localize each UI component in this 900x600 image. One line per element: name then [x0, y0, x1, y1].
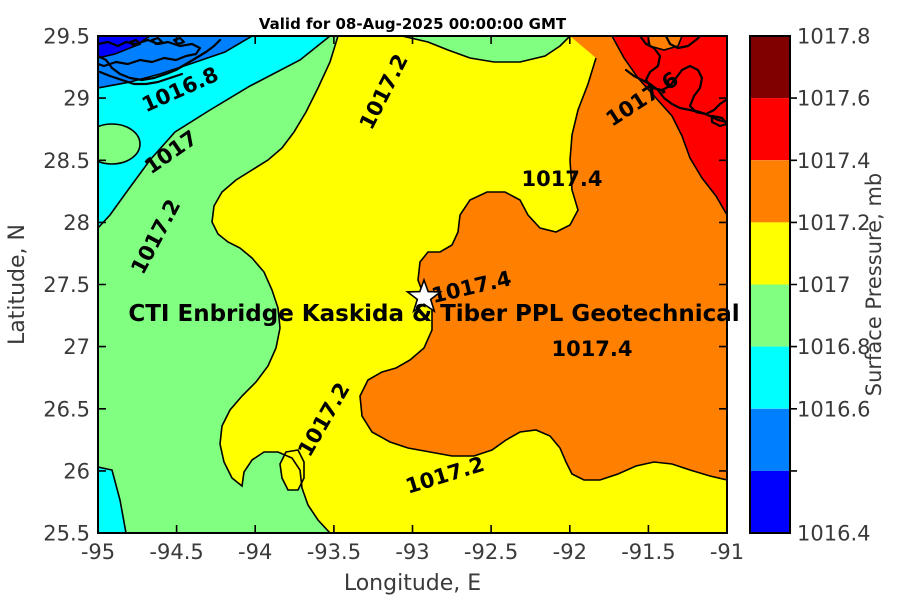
- x-tick-label: -91: [710, 540, 744, 564]
- colorbar-tick-label: 1017.2: [797, 211, 870, 235]
- y-tick-label: 29.5: [43, 25, 90, 49]
- colorbar-band: [750, 471, 790, 533]
- contour-label: 1017.4: [521, 167, 602, 191]
- x-tick-label: -94.5: [149, 540, 203, 564]
- y-tick-label: 28.5: [43, 149, 90, 173]
- colorbar-band: [750, 160, 790, 222]
- y-tick-label: 27: [63, 335, 90, 359]
- colorbar-tick-label: 1016.4: [797, 522, 870, 546]
- x-tick-label: -92: [553, 540, 587, 564]
- y-tick-label: 26: [63, 459, 90, 483]
- figure-root: -95 -94.5 -94 -93.5 -93 -92.5 -92 -91.5 …: [0, 0, 900, 600]
- colorbar-band: [750, 347, 790, 409]
- y-axis-title: Latitude, N: [5, 224, 30, 345]
- y-tick-label: 27.5: [43, 273, 90, 297]
- x-tick-label: -92.5: [464, 540, 518, 564]
- colorbar-band: [750, 285, 790, 347]
- colorbar-tick-label: 1017: [797, 273, 850, 297]
- x-tick-label: -94: [238, 540, 272, 564]
- y-tick-label: 29: [63, 87, 90, 111]
- colorbar-tick-label: 1017.6: [797, 87, 870, 111]
- page-title: Valid for 08-Aug-2025 00:00:00 GMT: [259, 15, 567, 33]
- x-axis-title: Longitude, E: [344, 571, 481, 596]
- colorbar-tick-label: 1016.8: [797, 335, 870, 359]
- y-tick-label: 25.5: [43, 522, 90, 546]
- colorbar-band: [750, 36, 790, 98]
- y-tick-label: 28: [63, 211, 90, 235]
- colorbar-band: [750, 222, 790, 284]
- y-tick-label: 26.5: [43, 397, 90, 421]
- colorbar-band: [750, 98, 790, 160]
- contour-label: 1017.4: [551, 337, 632, 361]
- x-tick-label: -91.5: [621, 540, 675, 564]
- site-label: CTI Enbridge Kaskida & Tiber PPL Geotech…: [128, 301, 739, 327]
- colorbar-tick-label: 1016.6: [797, 397, 870, 421]
- x-tick-labels: -95 -94.5 -94 -93.5 -93 -92.5 -92 -91.5 …: [81, 540, 744, 564]
- colorbar-band: [750, 409, 790, 471]
- colorbar-title: Surface Pressure, mb: [862, 173, 886, 396]
- colorbar-tick-label: 1017.4: [797, 149, 870, 173]
- x-tick-label: -93.5: [307, 540, 361, 564]
- colorbar-tick-label: 1017.8: [797, 25, 870, 49]
- x-tick-label: -93: [395, 540, 429, 564]
- contour-figure: -95 -94.5 -94 -93.5 -93 -92.5 -92 -91.5 …: [0, 0, 900, 600]
